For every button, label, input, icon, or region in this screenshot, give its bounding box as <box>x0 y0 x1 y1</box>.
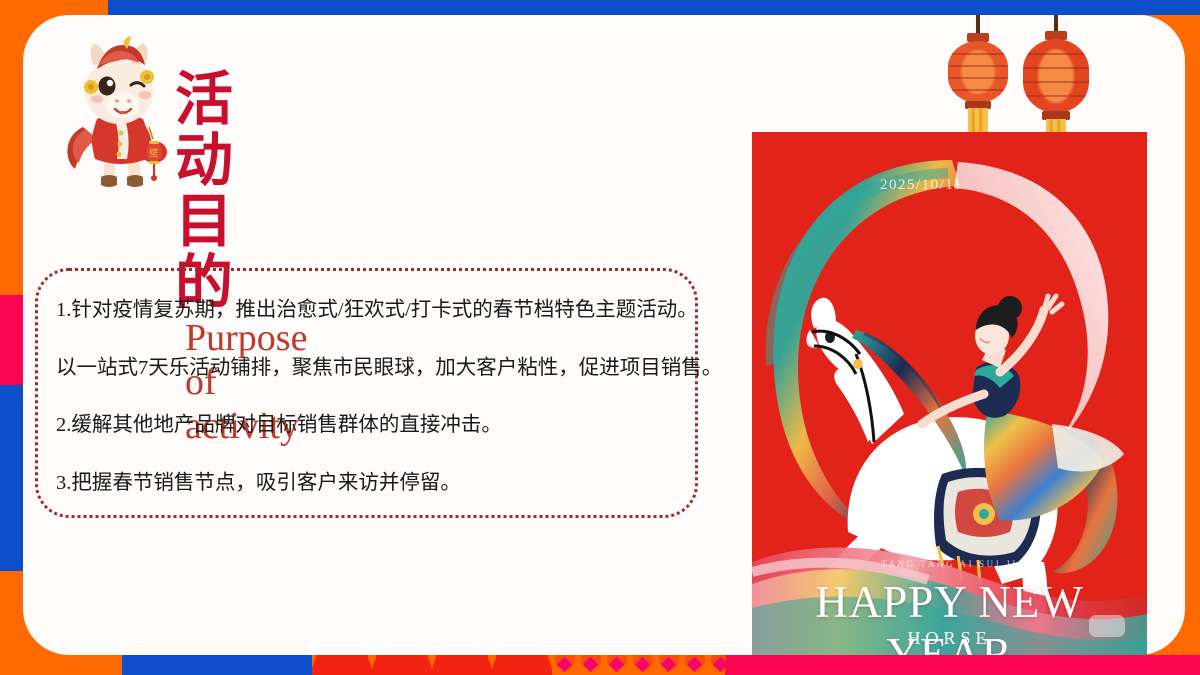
objective-line: 2.缓解其他地产品牌对目标销售群体的直接冲击。 <box>56 412 671 439</box>
objective-line: 以一站式7天乐活动铺排，聚焦市民眼球，加大客户粘性，促进项目销售。 <box>56 355 671 382</box>
poster-subtitle: TANG TANG AI SUI JI <box>752 559 1147 569</box>
lantern-icon <box>948 15 1008 145</box>
horse-mascot-icon: 壁 <box>53 35 183 195</box>
mascot-lantern-char: 壁 <box>149 147 158 159</box>
left-pink-band <box>0 295 23 385</box>
top-blue-band <box>108 0 1200 15</box>
slide-root: 壁 活动目的 Purpose of activity 1.针对疫情复苏期，推出治… <box>0 0 1200 675</box>
objective-line: 1.针对疫情复苏期，推出治愈式/狂欢式/打卡式的春节档特色主题活动。 <box>56 297 671 324</box>
left-blue-band <box>0 385 23 571</box>
bottom-diamond-pattern <box>552 655 726 675</box>
bottom-halfcircle-pattern-down <box>312 655 552 675</box>
content-card: 壁 活动目的 Purpose of activity 1.针对疫情复苏期，推出治… <box>23 15 1185 655</box>
bottom-pink-band <box>725 655 1200 675</box>
poster-date: 2025/10/11 <box>880 177 963 194</box>
lantern-icon <box>1023 15 1089 149</box>
new-year-poster: 2025/10/11 TANG TANG AI SUI JI HAPPY NEW… <box>752 132 1147 655</box>
bottom-blue-band <box>122 655 312 675</box>
objectives-box: 1.针对疫情复苏期，推出治愈式/狂欢式/打卡式的春节档特色主题活动。 以一站式7… <box>35 268 698 518</box>
poster-corner-chip <box>1089 615 1125 637</box>
poster-animal-label: HORSE <box>752 628 1147 649</box>
objective-line: 3.把握春节销售节点，吸引客户来访并停留。 <box>56 470 671 497</box>
